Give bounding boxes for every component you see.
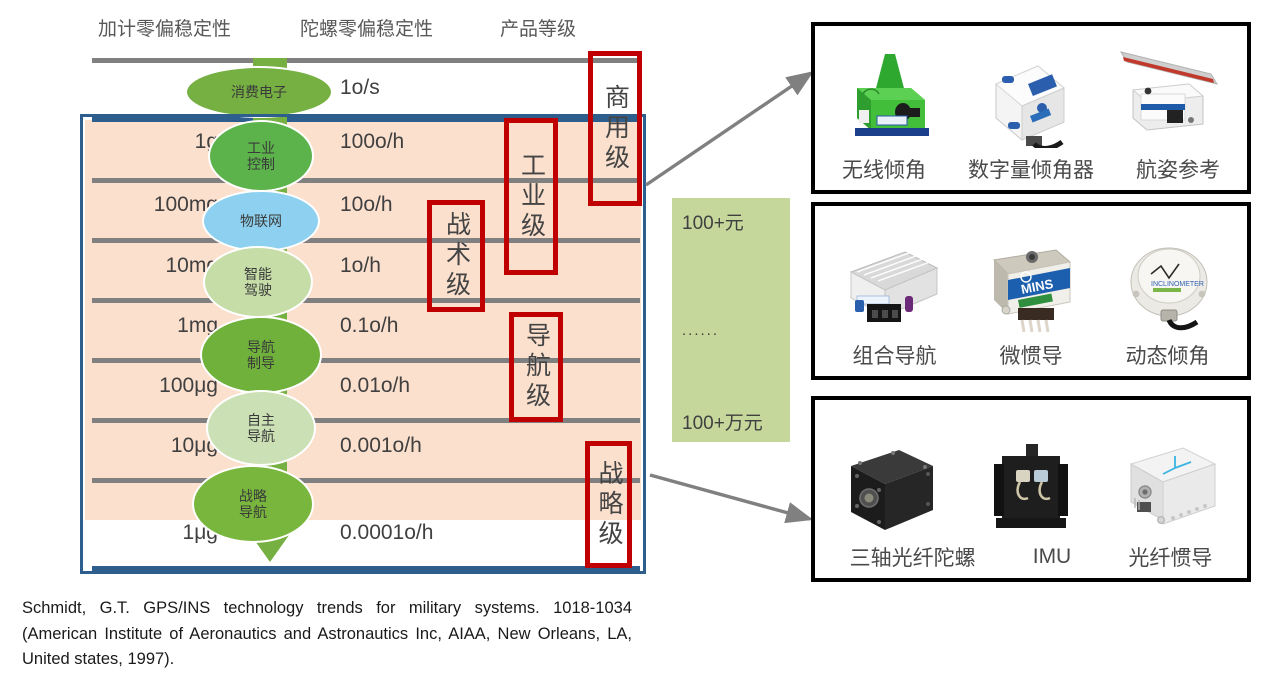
product-image-digital-inclinometer: [972, 48, 1090, 148]
product-label-1-2: 动态倾角: [1126, 340, 1210, 370]
price-range-box: 100+元 ...... 100+万元: [672, 198, 790, 442]
column-header-gyro: 陀螺零偏稳定性: [300, 14, 433, 41]
row-rule-0: [92, 58, 640, 63]
product-image-three-axis-fog: [833, 436, 951, 536]
product-label-0-0: 无线倾角: [842, 154, 926, 184]
price-bottom: 100+万元: [682, 408, 763, 435]
product-image-mini-ins: MINS: [972, 234, 1090, 334]
panel-commercial-products[interactable]: 无线倾角 数字量倾角器 航姿参考: [811, 22, 1251, 194]
price-ellipsis: ......: [682, 322, 719, 339]
grade-box-commercial[interactable]: 商用级: [588, 51, 642, 206]
price-top: 100+元: [682, 208, 744, 235]
grade-box-industrial[interactable]: 工业级: [504, 118, 558, 275]
product-image-fog-ins: [1111, 436, 1229, 536]
product-label-2-2: 光纤惯导: [1128, 542, 1212, 572]
panel-1-labels: 无线倾角 数字量倾角器 航姿参考: [815, 148, 1247, 190]
grade-box-strategic[interactable]: 战略级: [585, 441, 632, 568]
grade-box-tactical[interactable]: 战术级: [427, 200, 485, 312]
product-image-imu: [972, 436, 1090, 536]
citation-text: Schmidt, G.T. GPS/INS technology trends …: [22, 596, 632, 673]
grade-box-navigation[interactable]: 导航级: [509, 312, 563, 422]
product-image-dynamic-inclinometer: INCLINOMETER: [1111, 234, 1229, 334]
grade-label-navigation: 导航级: [524, 322, 549, 412]
column-header-grade: 产品等级: [500, 14, 576, 41]
product-image-wireless-inclinometer: [833, 48, 951, 148]
grade-label-tactical: 战术级: [444, 211, 469, 301]
product-label-1-1: 微惯导: [1000, 340, 1063, 370]
bubble-label-0a: 消费电子: [231, 84, 287, 100]
gyro-value-0: 1o/s: [340, 76, 380, 100]
column-header-accel: 加计零偏稳定性: [98, 14, 231, 41]
product-label-2-0: 三轴光纤陀螺: [850, 542, 976, 572]
svg-text:INCLINOMETER: INCLINOMETER: [1151, 281, 1204, 288]
connector-arrow-bottom: [650, 475, 810, 519]
product-label-0-2: 航姿参考: [1136, 154, 1220, 184]
grade-label-industrial: 工业级: [519, 152, 544, 242]
product-image-integrated-navigation: [833, 234, 951, 334]
product-label-0-1: 数字量倾角器: [968, 154, 1094, 184]
connector-arrow-top: [646, 73, 811, 185]
panel-strategic-products[interactable]: 三轴光纤陀螺 IMU 光纤惯导: [811, 396, 1251, 582]
panel-3-labels: 三轴光纤陀螺 IMU 光纤惯导: [815, 536, 1247, 578]
product-label-1-0: 组合导航: [853, 340, 937, 370]
product-image-ahrs: [1111, 48, 1229, 148]
bubble-consumer-electronics[interactable]: 消费电子: [185, 66, 333, 118]
product-label-2-1: IMU: [1033, 545, 1072, 569]
panel-2-labels: 组合导航 微惯导 动态倾角: [815, 334, 1247, 376]
panel-3-images: [815, 400, 1247, 536]
grade-label-commercial: 商用级: [603, 84, 628, 174]
grade-label-strategic: 战略级: [596, 460, 621, 550]
panel-tactical-products[interactable]: MINS INCLINOMETER: [811, 202, 1251, 380]
panel-2-images: MINS INCLINOMETER: [815, 206, 1247, 334]
panel-1-images: [815, 26, 1247, 148]
